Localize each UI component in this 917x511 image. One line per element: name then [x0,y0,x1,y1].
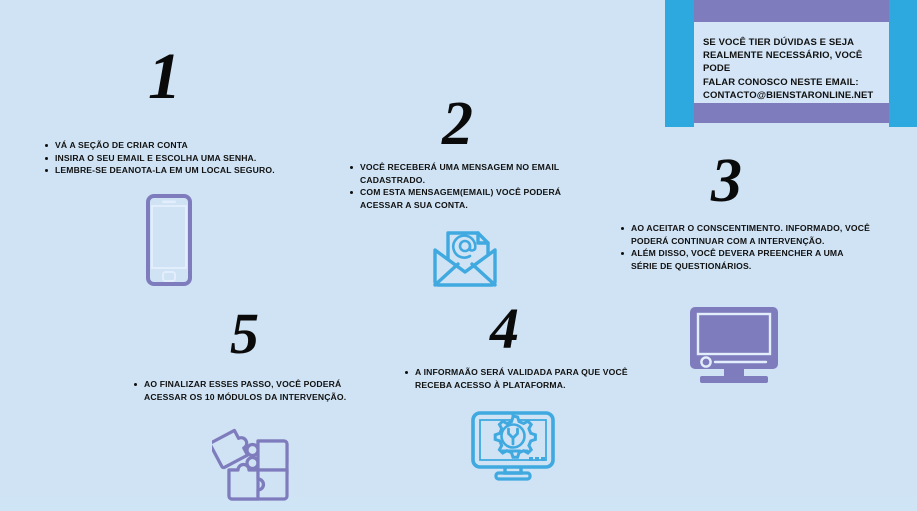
contact-line-3: FALAR CONOSCO NESTE EMAIL: [703,76,885,89]
puzzle-pieces-icon [212,425,300,510]
step-1-bullet-list: VÁ A SEÇÃO DE CRIAR CONTA INSIRA O SEU E… [44,139,314,177]
step-number-3: 3 [711,150,742,212]
contact-panel-right-accent-bar [889,0,917,127]
list-item: LEMBRE-SE DEANOTA-LA EM UM LOCAL SEGURO. [44,164,314,177]
list-item: AO FINALIZAR ESSES PASSO, VOCÊ PODERÁ AC… [133,378,378,403]
smartphone-icon [146,194,192,291]
list-item: VÁ A SEÇÃO DE CRIAR CONTA [44,139,314,152]
list-item: ALÉM DISSO, VOCÊ DEVERA PREENCHER A UMA … [620,247,870,272]
desktop-monitor-icon [688,305,780,388]
contact-panel-top-band [694,0,889,22]
list-item: A INFORMAÃO SERÁ VALIDADA PARA QUE VOCÊ … [404,366,634,391]
step-2-bullet-list: VOCÊ RECEBERÁ UMA MENSAGEM NO EMAIL CADA… [349,161,589,211]
step-5-bullet-list: AO FINALIZAR ESSES PASSO, VOCÊ PODERÁ AC… [133,378,378,403]
list-item: VOCÊ RECEBERÁ UMA MENSAGEM NO EMAIL CADA… [349,161,589,186]
step-number-2: 2 [442,93,473,155]
list-item: AO ACEITAR O CONSCENTIMENTO. INFORMADO, … [620,222,870,247]
step-number-5: 5 [230,305,259,363]
step-4-bullet-list: A INFORMAÃO SERÁ VALIDADA PARA QUE VOCÊ … [404,366,634,391]
step-3-bullet-list: AO ACEITAR O CONSCENTIMENTO. INFORMADO, … [620,222,870,272]
step-number-4: 4 [490,300,519,358]
step-number-1: 1 [148,44,181,110]
contact-panel-bottom-band [694,103,889,123]
list-item: INSIRA O SEU EMAIL E ESCOLHA UMA SENHA. [44,152,314,165]
infographic-canvas: SE VOCÊ TIER DÚVIDAS E SEJA REALMENTE NE… [0,0,917,511]
bottom-strip [0,497,917,511]
contact-line-2: REALMENTE NECESSÁRIO, VOCÊ PODE [703,49,885,75]
email-envelope-icon [430,228,500,293]
list-item: COM ESTA MENSAGEM(EMAIL) VOCÊ PODERÁ ACE… [349,186,589,211]
monitor-settings-icon [470,410,556,487]
contact-line-1: SE VOCÊ TIER DÚVIDAS E SEJA [703,36,885,49]
contact-panel-text: SE VOCÊ TIER DÚVIDAS E SEJA REALMENTE NE… [703,36,885,102]
contact-panel-left-accent-bar [665,0,694,127]
contact-line-4: CONTACTO@BIENSTARONLINE.NET [703,89,885,102]
